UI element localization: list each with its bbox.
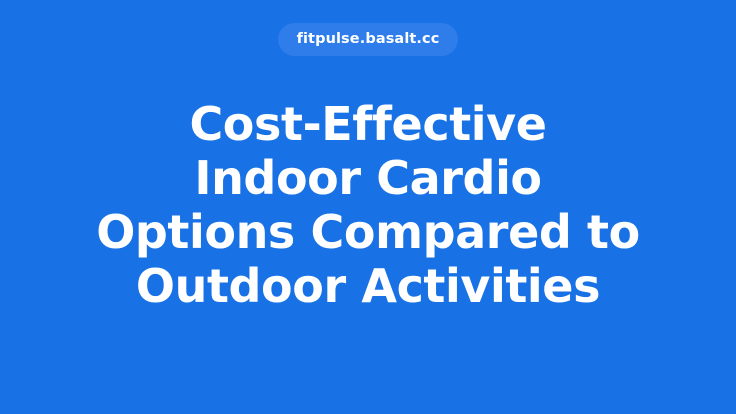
title-line-3: Options Compared to <box>24 205 712 259</box>
page-title: Cost-Effective Indoor Cardio Options Com… <box>0 97 736 313</box>
title-line-2: Indoor Cardio <box>24 151 712 205</box>
title-line-1: Cost-Effective <box>24 97 712 151</box>
title-slide: fitpulse.basalt.cc Cost-Effective Indoor… <box>0 0 736 414</box>
site-domain-badge: fitpulse.basalt.cc <box>278 23 459 56</box>
site-badge-row: fitpulse.basalt.cc <box>0 23 736 56</box>
title-line-4: Outdoor Activities <box>24 259 712 313</box>
